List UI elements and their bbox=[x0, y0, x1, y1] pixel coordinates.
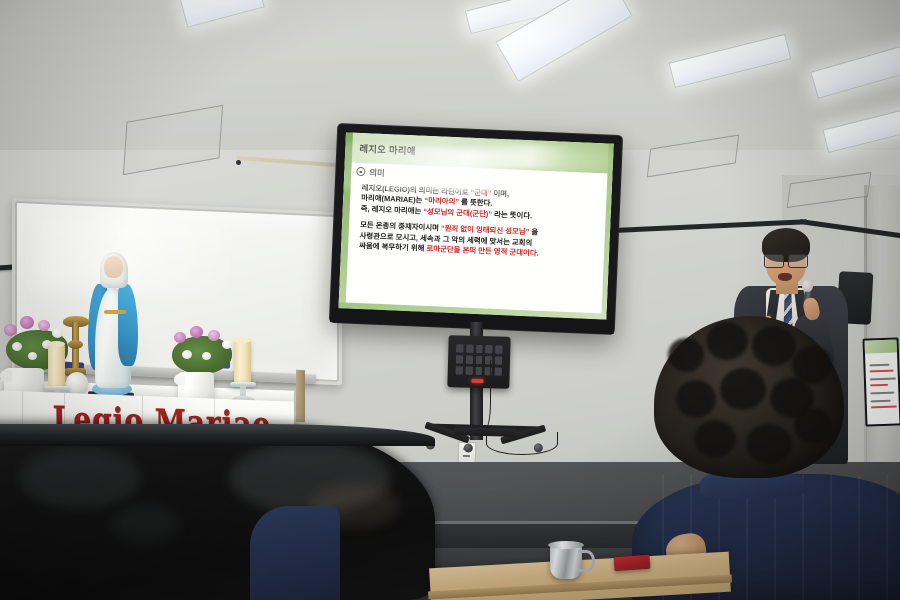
mouth bbox=[778, 273, 792, 281]
p1-l3-hi: “성모님의 군대(군단)” bbox=[423, 207, 492, 219]
white-sphere-globe bbox=[66, 372, 88, 394]
flower-bloom bbox=[28, 352, 37, 360]
listener-shoulder bbox=[250, 506, 340, 600]
slide-paragraph-2: 모든 은총의 중재자이시며 “원죄 없이 잉태되신 성모님” 을 사령관으로 모… bbox=[359, 220, 600, 262]
tv-screen: 레지오 마리애 의미 레지오(LEGIO)의 의미는 라틴어로 “군대” 이며,… bbox=[338, 132, 613, 319]
conduit-endcap bbox=[236, 160, 241, 165]
flower-bloom bbox=[4, 324, 17, 336]
whiteboard-glare bbox=[35, 213, 228, 297]
p2-l3-seg: 싸움에 복무하기 위해 bbox=[359, 242, 427, 254]
whiteboard-support-post bbox=[296, 370, 305, 422]
slide-paragraph-1: 레지오(LEGIO)의 의미는 라틴어로 “군대” 이며, 마리애(MARIAE… bbox=[361, 183, 602, 225]
flower-bloom bbox=[182, 350, 192, 359]
eyebrow-left bbox=[766, 250, 781, 253]
eyeglasses-icon bbox=[764, 254, 808, 266]
red-phone-case[interactable] bbox=[614, 555, 651, 571]
classroom-photo-scene: Legio Mariae 레지오 마리애 의미 레지오(LEGIO)의 의미는 … bbox=[0, 0, 900, 600]
flower-bloom bbox=[20, 316, 34, 329]
p1-l1-end: 이며, bbox=[491, 189, 509, 199]
p1-l2-end: 를 뜻한다. bbox=[459, 198, 493, 208]
flower-bloom bbox=[208, 330, 220, 341]
av-cable bbox=[486, 432, 558, 455]
flower-bloom bbox=[202, 352, 211, 360]
grand-piano bbox=[0, 424, 435, 600]
vase-spout-right bbox=[174, 374, 185, 385]
flower-bloom bbox=[12, 342, 22, 351]
altar-candle-left bbox=[48, 344, 65, 388]
p1-l3-end: 라는 뜻이다. bbox=[492, 210, 533, 221]
flower-bloom bbox=[38, 320, 50, 331]
statue-face bbox=[104, 256, 123, 278]
slide-body: 의미 레지오(LEGIO)의 의미는 라틴어로 “군대” 이며, 마리애(MAR… bbox=[338, 162, 612, 319]
piano-lid bbox=[0, 424, 435, 446]
eyebrow-right bbox=[788, 250, 803, 253]
statue-sash bbox=[104, 310, 126, 314]
flower-bloom bbox=[52, 328, 63, 338]
cup-rim bbox=[548, 541, 584, 549]
vase-spout-left bbox=[0, 370, 12, 382]
slide-bullet-label: 의미 bbox=[369, 166, 385, 179]
slide: 레지오 마리애 의미 레지오(LEGIO)의 의미는 라틴어로 “군대” 이며,… bbox=[338, 132, 613, 319]
presentation-display[interactable]: 레지오 마리애 의미 레지오(LEGIO)의 의미는 라틴어로 “군대” 이며,… bbox=[330, 124, 622, 334]
candle-wax-top-left bbox=[48, 341, 65, 347]
p1-l2-hi: “마리아의” bbox=[424, 196, 459, 206]
bullet-dot-icon bbox=[356, 167, 365, 176]
candle-wax-top-right bbox=[234, 337, 251, 343]
flower-bloom bbox=[174, 332, 186, 343]
cup-handle[interactable] bbox=[578, 550, 595, 572]
p1-l3-seg: 즉, 레지오 마리애는 bbox=[361, 204, 424, 216]
altar-candle-right bbox=[234, 340, 251, 384]
listener-curly-hair bbox=[654, 316, 844, 478]
flower-bloom bbox=[190, 326, 203, 338]
flower-arrangement-right bbox=[168, 318, 240, 378]
slide-title: 레지오 마리애 bbox=[359, 141, 416, 157]
microphone-head[interactable] bbox=[802, 280, 813, 292]
av-cable bbox=[474, 360, 491, 431]
p2-l1-end: 을 bbox=[529, 228, 538, 237]
cart-caster bbox=[464, 443, 473, 452]
flower-bloom bbox=[222, 340, 232, 349]
p1-l1-hi: “군대” bbox=[470, 188, 491, 198]
